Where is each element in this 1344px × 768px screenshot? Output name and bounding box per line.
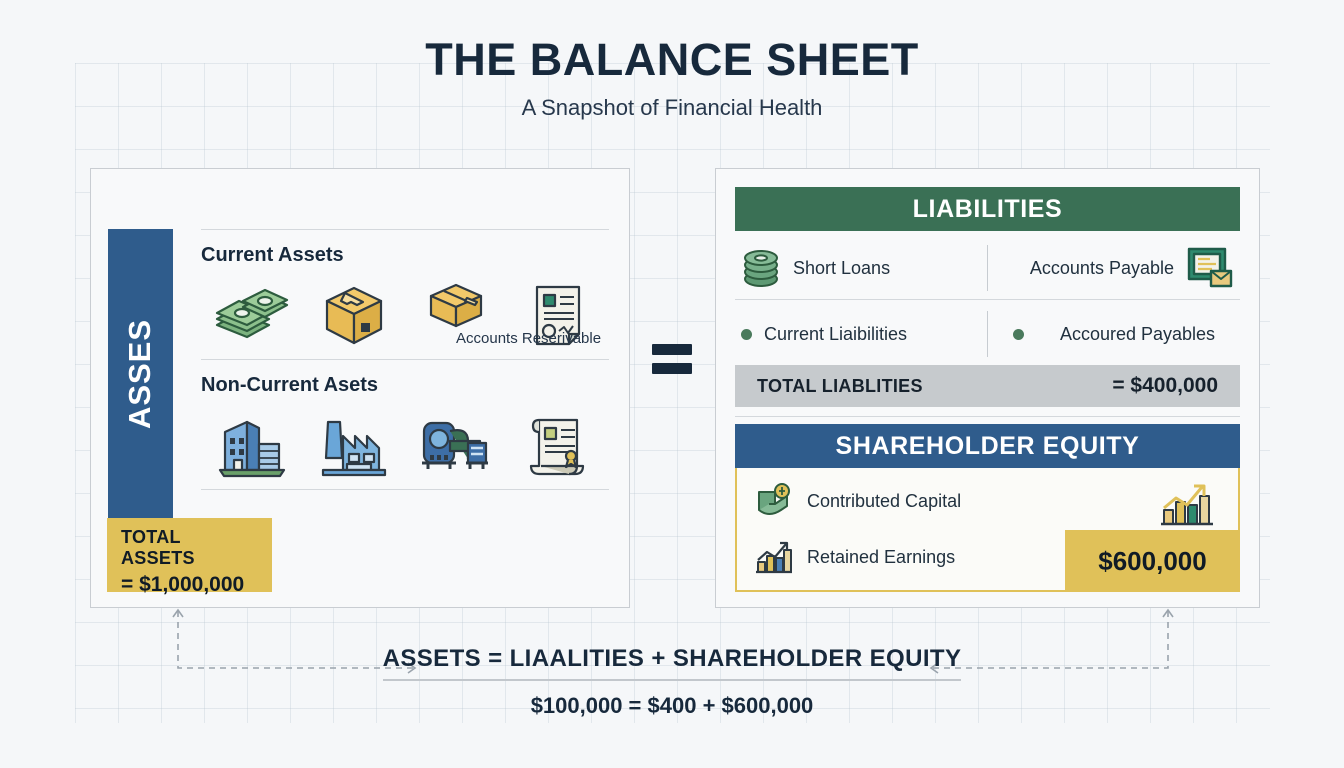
liabilities-item-accrued: Accoured Payables	[988, 303, 1240, 365]
invoice-card-icon	[1186, 246, 1234, 290]
page-title: THE BALANCE SHEET	[0, 36, 1344, 83]
growth-chart-icon	[753, 538, 793, 576]
liabilities-label: Short Loans	[793, 258, 890, 279]
equals-sign-icon	[652, 344, 692, 374]
shareholder-equity-body: Contributed Capital Retained Earnings	[735, 468, 1240, 592]
shareholder-equity-header: SHAREHOLDER EQUITY	[735, 424, 1240, 468]
current-assets-heading: Current Assets	[201, 244, 609, 267]
certificate-scroll-icon	[507, 414, 609, 478]
divider-bottom	[201, 489, 609, 490]
total-assets-label: TOTAL ASSETS	[121, 527, 258, 569]
coin-stack-icon	[741, 247, 781, 289]
accounting-equation: ASSETS = LIAALITIES + SHAREHOLDER EQUITY…	[0, 645, 1344, 719]
liabilities-divider	[735, 299, 1240, 300]
assets-side-tab: ASSES	[108, 229, 173, 519]
bullet-dot-icon	[1013, 329, 1024, 340]
equity-amount-value: $600,000	[1098, 546, 1206, 577]
office-building-icon	[201, 414, 303, 478]
total-liabilities-label: TOTAL LIABLITIES	[757, 376, 923, 397]
liabilities-header: LIABILITIES	[735, 187, 1240, 231]
page-subtitle: A Snapshot of Financial Health	[0, 95, 1344, 121]
cash-stack-icon	[201, 285, 303, 347]
equity-item-retained-earnings: Retained Earnings	[753, 538, 955, 576]
liabilities-row-2: Current Liaibilities Accoured Payables	[735, 303, 1240, 365]
equity-item-contributed-capital: Contributed Capital	[753, 482, 961, 520]
page-header: THE BALANCE SHEET A Snapshot of Financia…	[0, 36, 1344, 121]
bullet-dot-icon	[741, 329, 752, 340]
equity-amount-badge: $600,000	[1065, 530, 1240, 592]
liabilities-label: Current Liaibilities	[764, 324, 907, 345]
liabilities-label: Accounts Payable	[1030, 258, 1174, 279]
non-current-assets-icon-row	[201, 403, 609, 489]
total-liabilities-value: = $400,000	[1112, 374, 1218, 398]
equation-numbers: $100,000 = $400 + $600,000	[0, 693, 1344, 719]
factory-icon	[303, 414, 405, 478]
assets-content: Current Assets	[201, 229, 609, 490]
divider-middle	[201, 359, 609, 360]
machinery-icon	[405, 417, 507, 475]
money-hand-icon	[753, 482, 793, 520]
growth-chart-large-icon	[1158, 478, 1216, 535]
non-current-assets-heading: Non-Current Asets	[201, 374, 609, 397]
total-assets-badge: TOTAL ASSETS = $1,000,000	[107, 518, 272, 592]
liabilities-label: Accoured Payables	[1060, 324, 1215, 345]
package-box-icon	[303, 284, 405, 348]
liabilities-item-accounts-payable: Accounts Payable	[988, 237, 1240, 299]
total-assets-value: = $1,000,000	[121, 573, 258, 597]
accounts-receivable-label: Accounts Reserivable	[456, 330, 601, 347]
assets-side-tab-label: ASSES	[123, 319, 159, 429]
divider-top	[201, 229, 609, 230]
equation-formula: ASSETS = LIAALITIES + SHAREHOLDER EQUITY	[383, 645, 962, 681]
liabilities-row-1: Short Loans Accounts Payable	[735, 237, 1240, 299]
equity-label: Contributed Capital	[807, 491, 961, 512]
section-divider	[735, 416, 1240, 417]
current-assets-icon-row: Accounts Reserivable	[201, 273, 609, 359]
liabilities-equity-panel: LIABILITIES Short Loans Accounts Payable	[715, 168, 1260, 608]
equity-label: Retained Earnings	[807, 547, 955, 568]
liabilities-item-short-loans: Short Loans	[735, 237, 987, 299]
liabilities-item-current: Current Liaibilities	[735, 303, 987, 365]
total-liabilities-bar: TOTAL LIABLITIES = $400,000	[735, 365, 1240, 407]
